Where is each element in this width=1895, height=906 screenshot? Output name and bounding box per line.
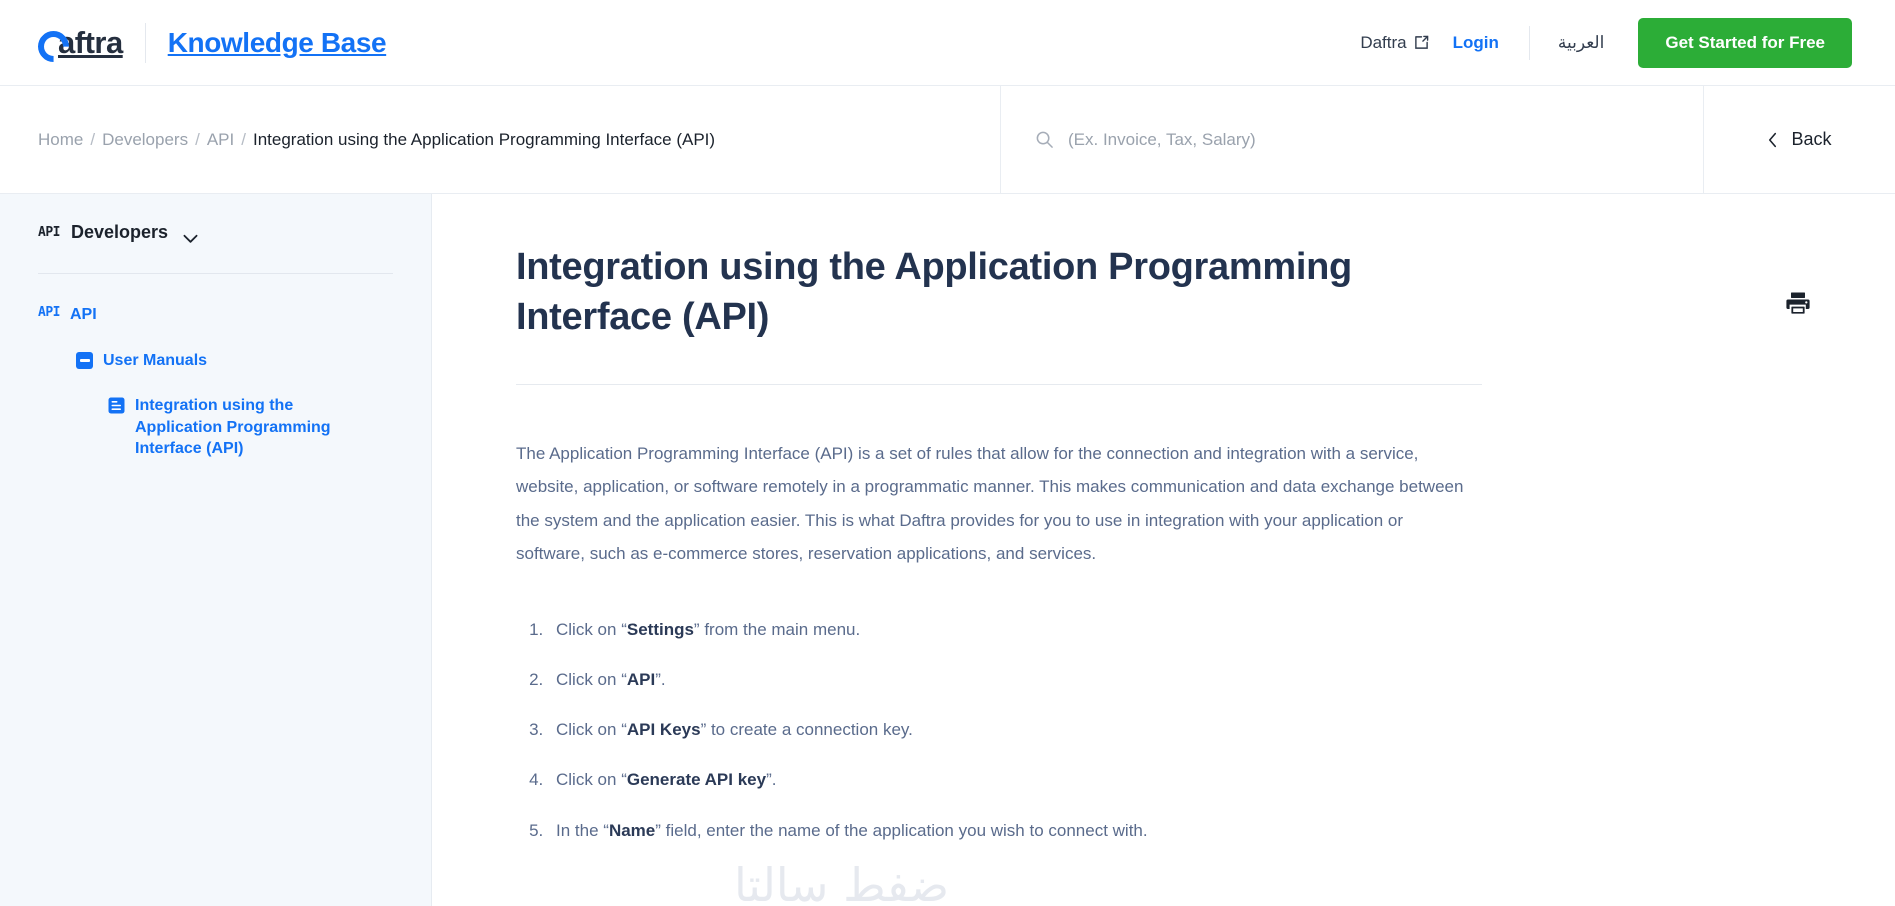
article-lead-paragraph: The Application Programming Interface (A… bbox=[516, 437, 1468, 570]
header-actions: Daftra Login العربية Get Started for Fre… bbox=[1348, 18, 1852, 68]
breadcrumb-separator: / bbox=[195, 130, 200, 150]
breadcrumb-separator: / bbox=[90, 130, 95, 150]
sidebar-tree: API API User Manuals Integration using t… bbox=[38, 274, 393, 460]
page-watermark: ضفط سالتا bbox=[734, 858, 949, 906]
daftra-logo[interactable]: aftra bbox=[38, 25, 123, 61]
step-post: . bbox=[661, 670, 666, 689]
step-post: from the main menu. bbox=[700, 620, 861, 639]
header-divider bbox=[1529, 26, 1530, 60]
step-post: field, enter the name of the application… bbox=[661, 821, 1148, 840]
article-header: Integration using the Application Progra… bbox=[516, 242, 1811, 342]
step-pre: Click on bbox=[556, 620, 621, 639]
search-box[interactable] bbox=[1000, 86, 1703, 193]
search-input[interactable] bbox=[1068, 130, 1669, 150]
external-link-icon bbox=[1414, 35, 1429, 50]
step-pre: Click on bbox=[556, 720, 621, 739]
step-pre: In the bbox=[556, 821, 603, 840]
api-icon: API bbox=[38, 226, 60, 239]
list-item: In the “Name” field, enter the name of t… bbox=[548, 817, 1468, 844]
list-item: Click on “API”. bbox=[548, 666, 1468, 693]
sidebar-item-user-manuals[interactable]: User Manuals bbox=[38, 350, 393, 372]
step-emphasis: API bbox=[627, 670, 655, 689]
sidebar-item-label: API bbox=[70, 304, 97, 326]
list-item: Click on “Settings” from the main menu. bbox=[548, 616, 1468, 643]
knowledge-base-title[interactable]: Knowledge Base bbox=[168, 27, 386, 59]
sidebar: API Developers API API User Manuals bbox=[0, 194, 432, 906]
step-pre: Click on bbox=[556, 670, 621, 689]
breadcrumb-item-current: Integration using the Application Progra… bbox=[253, 130, 715, 150]
language-switch-arabic[interactable]: العربية bbox=[1544, 33, 1618, 53]
step-emphasis: API Keys bbox=[627, 720, 701, 739]
sidebar-item-label: Integration using the Application Progra… bbox=[135, 395, 365, 460]
step-post: . bbox=[772, 770, 777, 789]
breadcrumb-bar: Home / Developers / API / Integration us… bbox=[0, 86, 1895, 194]
title-divider bbox=[516, 384, 1482, 385]
get-started-button[interactable]: Get Started for Free bbox=[1638, 18, 1852, 68]
step-pre: Click on bbox=[556, 770, 621, 789]
step-emphasis: Settings bbox=[627, 620, 694, 639]
site-header: aftra Knowledge Base Daftra Login العربي… bbox=[0, 0, 1895, 86]
breadcrumb-item-developers[interactable]: Developers bbox=[102, 130, 188, 150]
list-item: Click on “API Keys” to create a connecti… bbox=[548, 716, 1468, 743]
chevron-left-icon bbox=[1767, 131, 1778, 149]
article-main: Integration using the Application Progra… bbox=[432, 194, 1895, 906]
daftra-site-link[interactable]: Daftra bbox=[1348, 33, 1440, 53]
page-title: Integration using the Application Progra… bbox=[516, 242, 1476, 342]
login-link[interactable]: Login bbox=[1441, 33, 1511, 53]
step-post: to create a connection key. bbox=[706, 720, 913, 739]
sidebar-section-label: Developers bbox=[71, 222, 168, 243]
brand-divider bbox=[145, 23, 146, 63]
breadcrumb: Home / Developers / API / Integration us… bbox=[0, 86, 1000, 193]
page-body: API Developers API API User Manuals bbox=[0, 194, 1895, 906]
back-button-label: Back bbox=[1791, 129, 1831, 150]
sidebar-item-integration-api[interactable]: Integration using the Application Progra… bbox=[38, 395, 393, 460]
breadcrumb-item-api[interactable]: API bbox=[207, 130, 234, 150]
document-icon bbox=[108, 397, 125, 414]
breadcrumb-separator: / bbox=[241, 130, 246, 150]
printer-icon[interactable] bbox=[1785, 290, 1811, 316]
chevron-down-icon bbox=[183, 228, 198, 238]
breadcrumb-item-home[interactable]: Home bbox=[38, 130, 83, 150]
sidebar-item-api[interactable]: API API bbox=[38, 304, 393, 326]
list-item: Click on “Generate API key”. bbox=[548, 766, 1468, 793]
search-icon bbox=[1035, 130, 1054, 149]
sidebar-section-developers[interactable]: API Developers bbox=[38, 222, 393, 247]
minus-square-icon[interactable] bbox=[76, 352, 93, 369]
api-icon: API bbox=[38, 306, 60, 319]
back-button[interactable]: Back bbox=[1703, 86, 1895, 193]
sidebar-item-label: User Manuals bbox=[103, 350, 207, 372]
daftra-d-mark-icon bbox=[38, 29, 57, 53]
step-emphasis: Name bbox=[609, 821, 655, 840]
daftra-site-link-label: Daftra bbox=[1360, 33, 1406, 53]
article-steps-list: Click on “Settings” from the main menu. … bbox=[516, 616, 1468, 844]
step-emphasis: Generate API key bbox=[627, 770, 766, 789]
brand-group: aftra Knowledge Base bbox=[38, 23, 386, 63]
